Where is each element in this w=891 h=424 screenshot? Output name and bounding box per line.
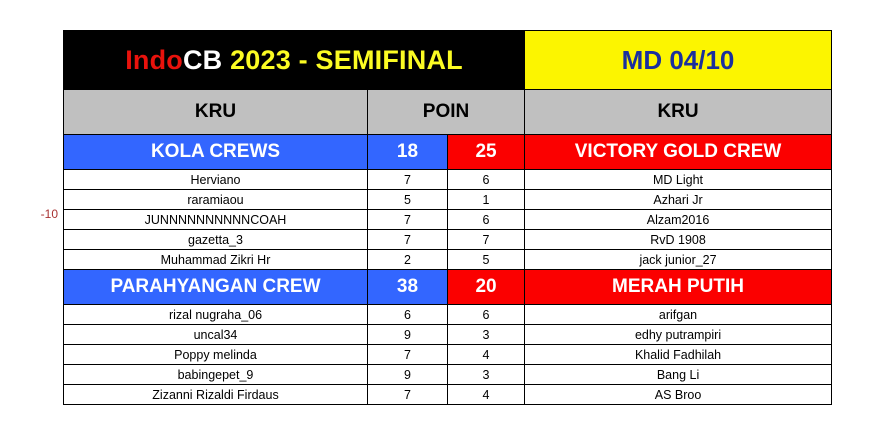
event-title-cb: CB (183, 45, 222, 75)
title-row: IndoCB 2023 - SEMIFINAL MD 04/10 (64, 31, 832, 90)
player-points-left: 7 (368, 345, 448, 365)
player-name-right: edhy putrampiri (525, 325, 832, 345)
table-row: Poppy melinda 7 4 Khalid Fadhilah (64, 345, 832, 365)
player-points-left: 5 (368, 190, 448, 210)
player-points-right: 7 (448, 230, 525, 250)
player-points-right: 6 (448, 305, 525, 325)
player-points-left: 7 (368, 210, 448, 230)
player-points-left: 9 (368, 365, 448, 385)
player-points-right: 6 (448, 170, 525, 190)
player-points-left: 7 (368, 230, 448, 250)
player-name-right: arifgan (525, 305, 832, 325)
player-points-right: 4 (448, 345, 525, 365)
event-title-rest: 2023 - SEMIFINAL (222, 45, 462, 75)
player-points-left: 9 (368, 325, 448, 345)
player-name-right: AS Broo (525, 385, 832, 405)
team-name-left: KOLA CREWS (64, 135, 368, 170)
table-row: JUNNNNNNNNNNCOAH 7 6 Alzam2016 (64, 210, 832, 230)
table-row: raramiaou 5 1 Azhari Jr (64, 190, 832, 210)
column-header-poin: POIN (368, 90, 525, 135)
player-points-right: 1 (448, 190, 525, 210)
column-header-kru-right: KRU (525, 90, 832, 135)
team-score-right: 25 (448, 135, 525, 170)
player-name-left: Herviano (64, 170, 368, 190)
table-row: babingepet_9 9 3 Bang Li (64, 365, 832, 385)
team-name-right: VICTORY GOLD CREW (525, 135, 832, 170)
player-name-left: raramiaou (64, 190, 368, 210)
player-name-left: Zizanni Rizaldi Firdaus (64, 385, 368, 405)
table-row: Muhammad Zikri Hr 2 5 jack junior_27 (64, 250, 832, 270)
player-name-left: rizal nugraha_06 (64, 305, 368, 325)
table-row: KOLA CREWS 18 25 VICTORY GOLD CREW (64, 135, 832, 170)
penalty-annotation: -10 (18, 207, 58, 221)
player-name-left: uncal34 (64, 325, 368, 345)
column-header-kru-left: KRU (64, 90, 368, 135)
player-name-left: Muhammad Zikri Hr (64, 250, 368, 270)
scoreboard-body: IndoCB 2023 - SEMIFINAL MD 04/10 KRU POI… (64, 31, 832, 405)
player-points-right: 5 (448, 250, 525, 270)
player-name-right: jack junior_27 (525, 250, 832, 270)
player-name-right: Khalid Fadhilah (525, 345, 832, 365)
team-name-right: MERAH PUTIH (525, 270, 832, 305)
player-points-left: 7 (368, 385, 448, 405)
scoreboard-table: IndoCB 2023 - SEMIFINAL MD 04/10 KRU POI… (63, 30, 832, 405)
table-row: Herviano 7 6 MD Light (64, 170, 832, 190)
table-row: uncal34 9 3 edhy putrampiri (64, 325, 832, 345)
player-name-right: MD Light (525, 170, 832, 190)
player-points-left: 2 (368, 250, 448, 270)
scoreboard: IndoCB 2023 - SEMIFINAL MD 04/10 KRU POI… (63, 30, 831, 405)
event-title: IndoCB 2023 - SEMIFINAL (64, 31, 525, 90)
event-title-indo: Indo (125, 45, 183, 75)
player-name-left: Poppy melinda (64, 345, 368, 365)
player-name-right: Azhari Jr (525, 190, 832, 210)
player-name-left: JUNNNNNNNNNNCOAH (64, 210, 368, 230)
player-points-right: 4 (448, 385, 525, 405)
match-day-badge: MD 04/10 (525, 31, 832, 90)
player-name-right: Bang Li (525, 365, 832, 385)
team-score-right: 20 (448, 270, 525, 305)
player-points-right: 3 (448, 365, 525, 385)
player-name-right: RvD 1908 (525, 230, 832, 250)
table-row: Zizanni Rizaldi Firdaus 7 4 AS Broo (64, 385, 832, 405)
team-score-left: 18 (368, 135, 448, 170)
player-points-right: 3 (448, 325, 525, 345)
team-score-left: 38 (368, 270, 448, 305)
table-row: rizal nugraha_06 6 6 arifgan (64, 305, 832, 325)
team-name-left: PARAHYANGAN CREW (64, 270, 368, 305)
player-name-right: Alzam2016 (525, 210, 832, 230)
column-header-row: KRU POIN KRU (64, 90, 832, 135)
player-name-left: babingepet_9 (64, 365, 368, 385)
table-row: gazetta_3 7 7 RvD 1908 (64, 230, 832, 250)
player-name-left: gazetta_3 (64, 230, 368, 250)
player-points-left: 6 (368, 305, 448, 325)
player-points-right: 6 (448, 210, 525, 230)
player-points-left: 7 (368, 170, 448, 190)
table-row: PARAHYANGAN CREW 38 20 MERAH PUTIH (64, 270, 832, 305)
